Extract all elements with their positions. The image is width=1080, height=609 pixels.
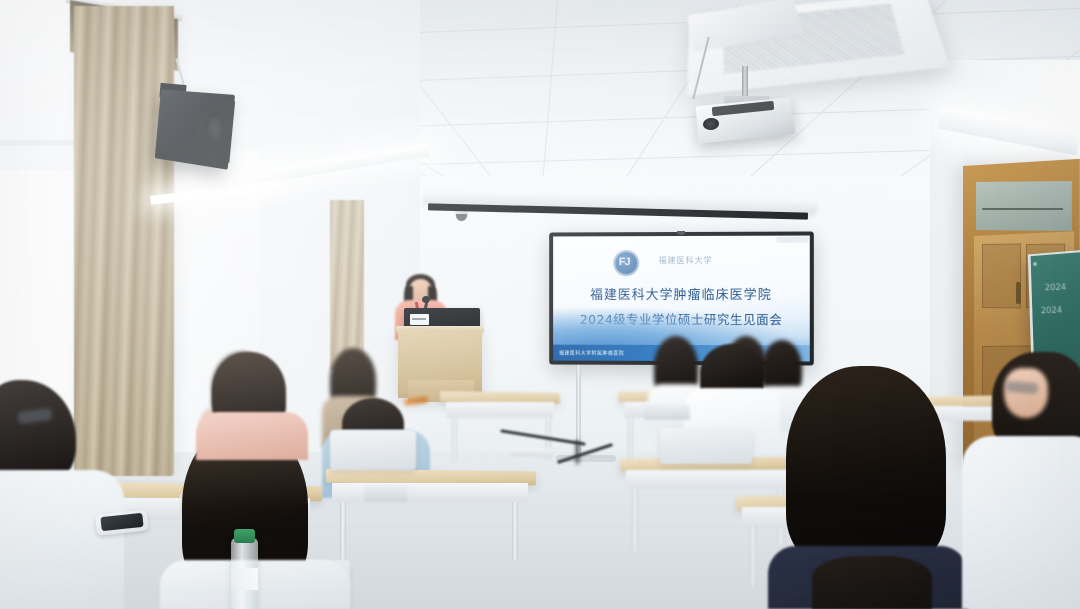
slide-title-line-1: 福建医科大学肿瘤临床医学院 bbox=[553, 284, 810, 303]
display-brand-badge bbox=[776, 237, 808, 243]
curtain bbox=[74, 6, 174, 476]
desk-leg bbox=[750, 526, 756, 586]
display-camera-icon bbox=[677, 231, 685, 235]
window-mullion bbox=[0, 140, 80, 146]
power-strip bbox=[510, 447, 552, 457]
desk-leg bbox=[512, 502, 518, 560]
microphone-icon bbox=[422, 296, 430, 303]
desk-apron bbox=[446, 402, 554, 418]
chalk-mark bbox=[1033, 262, 1037, 266]
student-hair bbox=[812, 556, 932, 609]
projector-mount-pole bbox=[742, 66, 748, 100]
desk-leg bbox=[632, 488, 638, 550]
wall-speaker-cone bbox=[205, 112, 225, 144]
door-transom-bar bbox=[982, 208, 1063, 210]
student-body bbox=[196, 412, 308, 460]
podium-label-line bbox=[412, 318, 426, 320]
desk-apron bbox=[626, 470, 790, 489]
chair-back bbox=[660, 428, 752, 464]
desk-leg bbox=[340, 502, 346, 568]
university-logo-text: 福建医科大学 bbox=[659, 255, 713, 266]
student-hair bbox=[786, 366, 946, 566]
desk-leg bbox=[452, 416, 457, 462]
desk-apron bbox=[332, 483, 528, 503]
slide-footer-text: 福建医科大学附属肿瘤医院 bbox=[559, 350, 624, 357]
university-logo-mark: FJ bbox=[619, 256, 630, 268]
water-bottle-label bbox=[231, 568, 258, 590]
student-body bbox=[0, 470, 124, 609]
floor-cable bbox=[576, 440, 579, 464]
water-bottle-cap bbox=[234, 529, 255, 543]
chair-back bbox=[330, 430, 416, 470]
classroom-photo: 2024 2024 FJ 福建医科大学 福建医科大学肿瘤临床医学院 2024级专… bbox=[0, 0, 1080, 609]
desk-module bbox=[644, 404, 690, 420]
door-transom-window bbox=[976, 181, 1072, 231]
desk-module bbox=[364, 484, 408, 502]
door-handle[interactable] bbox=[1016, 282, 1021, 304]
curtain-secondary bbox=[330, 200, 364, 370]
chalkboard-text-line-1: 2024 bbox=[1045, 283, 1067, 294]
desk-leg bbox=[628, 416, 633, 464]
chalkboard-text-line-2: 2024 bbox=[1041, 306, 1063, 317]
student-body bbox=[962, 436, 1080, 609]
